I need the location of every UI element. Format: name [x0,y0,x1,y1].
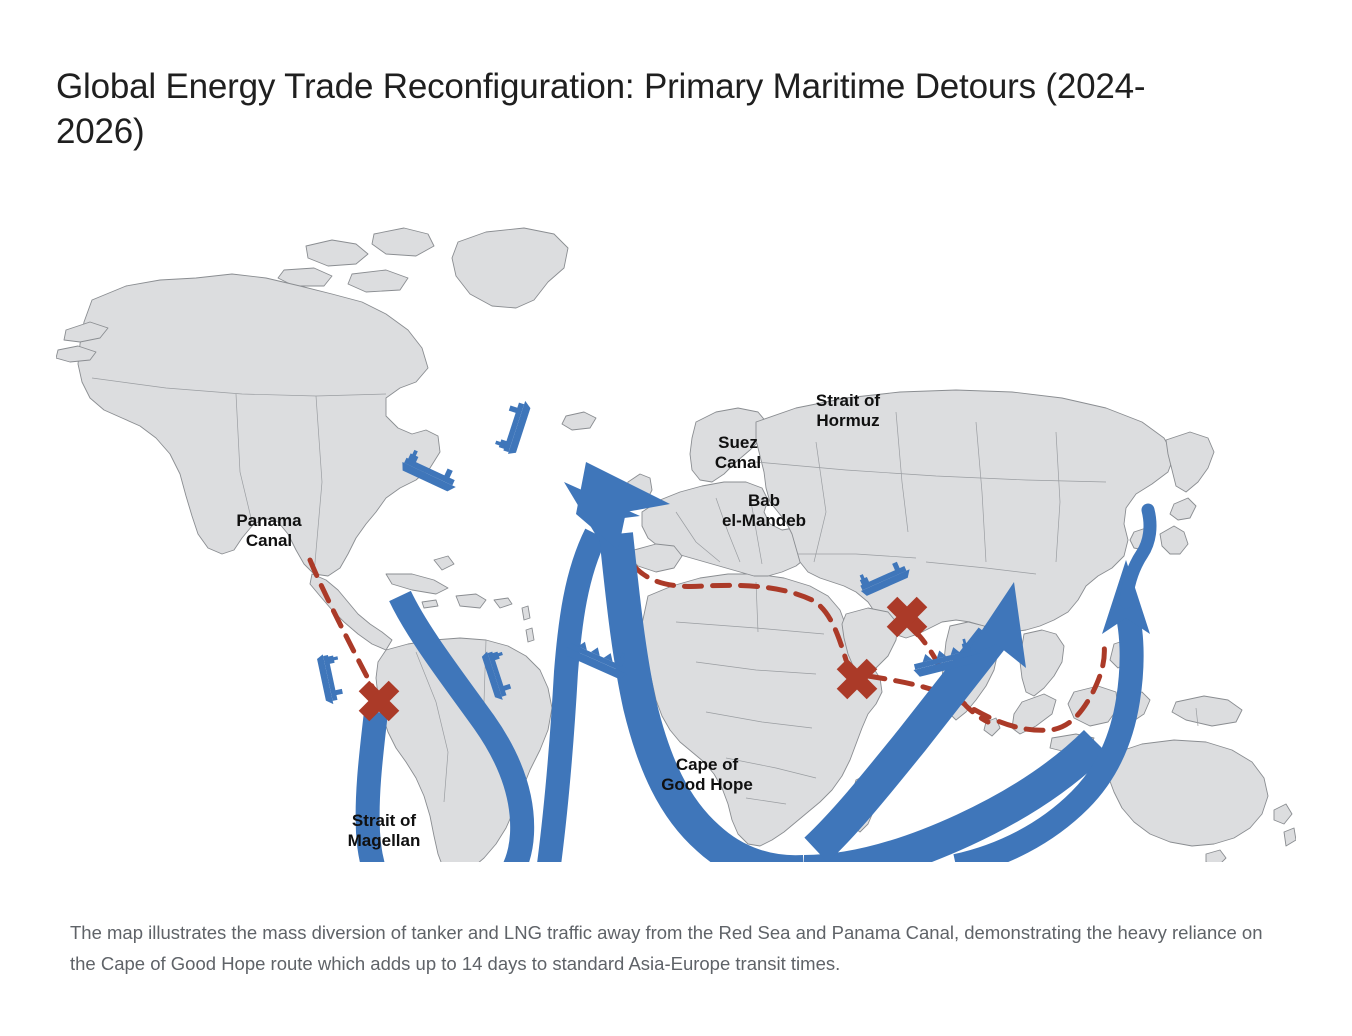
label-strait-of-hormuz-line-2: Hormuz [816,411,879,430]
label-suez-canal-line-1: Suez [718,433,758,452]
label-panama-canal-line-1: Panama [236,511,302,530]
landmass-lesser-antilles [522,606,530,620]
label-suez-canal: Suez Canal [715,433,761,472]
label-panama-canal-line-2: Canal [246,531,292,550]
label-bab-el-mandeb-line-1: Bab [748,491,780,510]
landmass-lesser-antilles-2 [526,628,534,642]
figure-page: Global Energy Trade Reconfiguration: Pri… [0,0,1352,1036]
figure-caption: The map illustrates the mass diversion o… [70,917,1270,981]
label-strait-of-magellan: Strait of Magellan [348,811,421,850]
label-suez-canal-line-2: Canal [715,453,761,472]
red-x-marker-bab-el-mandeb [842,664,872,694]
label-bab-el-mandeb-line-2: el-Mandeb [722,511,806,530]
red-x-marker-strait-of-hormuz [892,602,922,632]
label-strait-of-hormuz-line-1: Strait of [816,391,881,410]
red-x-marker-panama-canal [364,686,394,716]
label-strait-of-hormuz: Strait of Hormuz [816,391,881,430]
label-strait-of-magellan-line-1: Strait of [352,811,417,830]
world-map-figure: Panama Canal Suez Canal Bab el-Mandeb St… [56,182,1296,862]
label-cape-of-good-hope-line-1: Cape of [676,755,739,774]
label-cape-of-good-hope-line-2: Good Hope [661,775,753,794]
label-strait-of-magellan-line-2: Magellan [348,831,421,850]
page-title: Global Energy Trade Reconfiguration: Pri… [56,65,1186,154]
world-map-svg: Panama Canal Suez Canal Bab el-Mandeb St… [56,182,1296,862]
